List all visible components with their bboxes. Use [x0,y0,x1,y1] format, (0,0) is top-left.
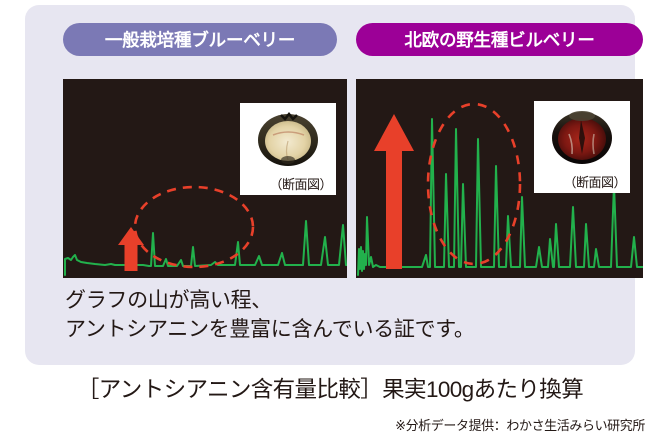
caption-line-2: アントシアニンを豊富に含んでいる証です。 [65,315,645,344]
cross-section-caption-cultivated: （断面図） [269,174,332,193]
cultivated-blueberry-label: 一般栽培種ブルーベリー [63,23,337,56]
cross-section-inset-wild: （断面図） [534,101,630,193]
footer-title: ［アントシアニン含有量比較］果実100gあたり換算 [0,372,660,404]
cross-section-inset-cultivated: （断面図） [240,103,336,195]
chart-caption: グラフの山が高い程、 アントシアニンを豊富に含んでいる証です。 [65,286,645,344]
wild-bilberry-label: 北欧の野生種ビルベリー [356,23,643,56]
infographic-card: 一般栽培種ブルーベリー 北欧の野生種ビルベリー [25,5,635,365]
anthocyanin-level-arrow-wild [374,114,414,269]
chart-panel-wild: （断面図） [356,79,643,278]
blueberry-cross-section-image [255,110,321,168]
bilberry-cross-section-image [549,108,615,166]
footer-source-note: ※分析データ提供：わかさ生活みらい研究所 [0,415,645,434]
highlight-ellipse-wild [428,104,520,264]
caption-line-1: グラフの山が高い程、 [65,286,645,315]
chart-panel-cultivated: （断面図） [63,79,347,278]
cross-section-caption-wild: （断面図） [563,172,626,191]
